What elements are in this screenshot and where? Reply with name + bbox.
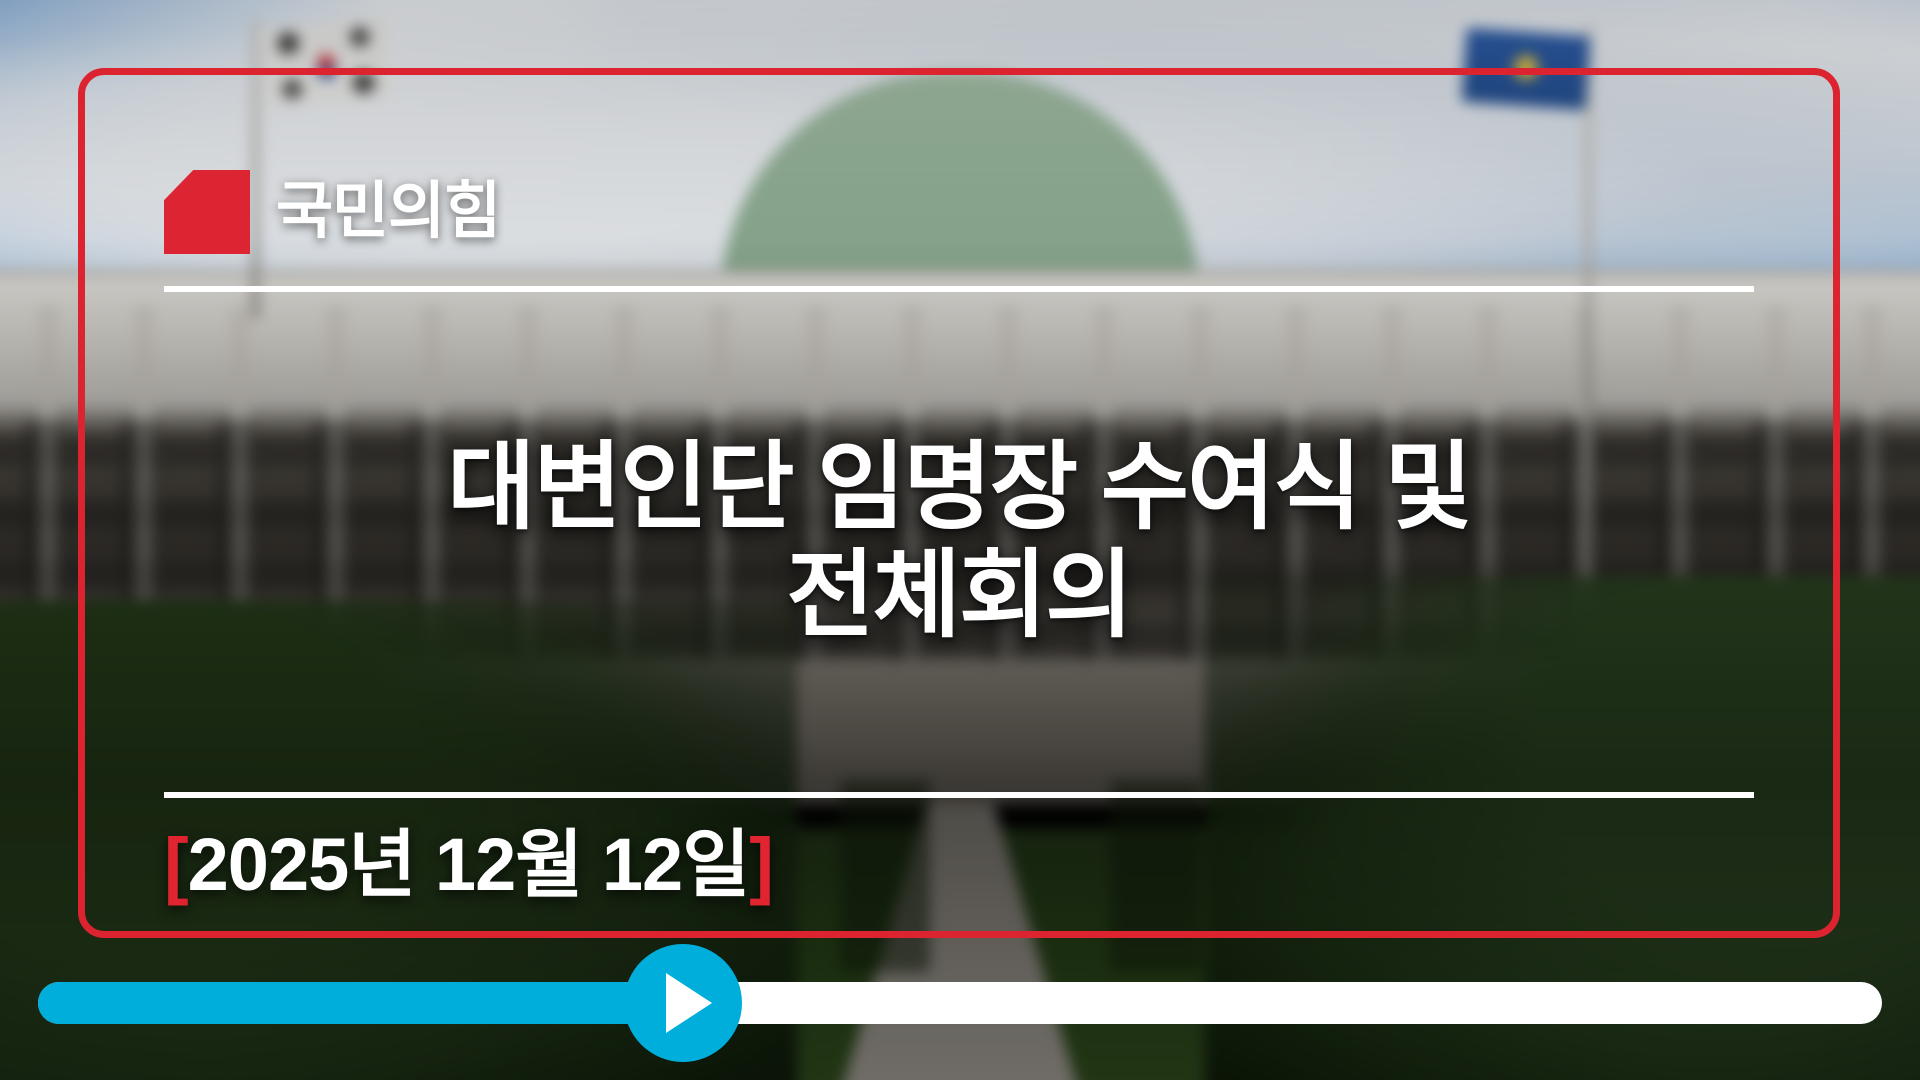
bracket-open: [ — [164, 823, 188, 906]
brand-row: 국민의힘 — [164, 164, 1754, 260]
video-player-bar[interactable] — [38, 974, 1882, 1032]
brand-name: 국민의힘 — [276, 181, 500, 243]
play-triangle-icon — [666, 973, 712, 1033]
title-line-2: 전체회의 — [447, 542, 1471, 650]
play-button[interactable] — [624, 944, 742, 1062]
ppp-logo-icon — [164, 170, 250, 254]
date-text: 2025년 12월 12일 — [188, 823, 750, 906]
video-thumbnail-stage: 국민의힘 대변인단 임명장 수여식 및 전체회의 [2025년 12월 12일] — [0, 0, 1920, 1080]
progress-fill — [38, 982, 683, 1024]
page-title: 대변인단 임명장 수여식 및 전체회의 — [447, 434, 1471, 649]
progress-track[interactable] — [38, 982, 1882, 1024]
bracket-close: ] — [749, 823, 773, 906]
date-label: [2025년 12월 12일] — [164, 828, 773, 902]
overlay-content: 국민의힘 대변인단 임명장 수여식 및 전체회의 [2025년 12월 12일] — [78, 68, 1840, 938]
title-line-1: 대변인단 임명장 수여식 및 — [447, 434, 1471, 542]
title-block: 대변인단 임명장 수여식 및 전체회의 — [164, 292, 1754, 792]
divider-bottom — [164, 792, 1754, 798]
date-row: [2025년 12월 12일] — [164, 828, 1754, 902]
